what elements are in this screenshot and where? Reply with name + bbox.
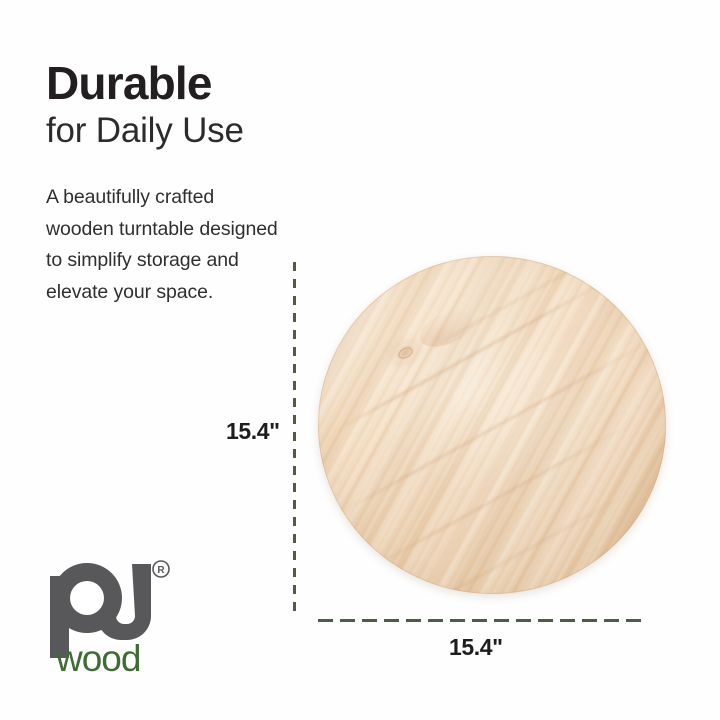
registered-trademark-icon: R xyxy=(153,561,169,577)
dimension-label-width: 15.4" xyxy=(449,634,503,661)
headline-block: Durable for Daily Use xyxy=(46,60,376,151)
headline-primary: Durable xyxy=(46,60,376,108)
wood-grain-broad xyxy=(318,256,666,594)
infographic-canvas: Durable for Daily Use A beautifully craf… xyxy=(0,0,720,720)
headline-secondary: for Daily Use xyxy=(46,110,376,151)
dimension-line-vertical xyxy=(293,262,296,612)
product-image-turntable xyxy=(318,256,666,594)
brand-logo-pj-wood: R wood xyxy=(44,558,194,676)
svg-text:R: R xyxy=(157,565,165,576)
dimension-label-height: 15.4" xyxy=(226,418,280,445)
logo-p-counter xyxy=(70,581,104,615)
dimension-line-horizontal xyxy=(318,619,646,622)
logo-wordmark-wood: wood xyxy=(55,638,140,676)
description-text: A beautifully crafted wooden turntable d… xyxy=(46,182,278,308)
wooden-disc xyxy=(318,256,666,594)
